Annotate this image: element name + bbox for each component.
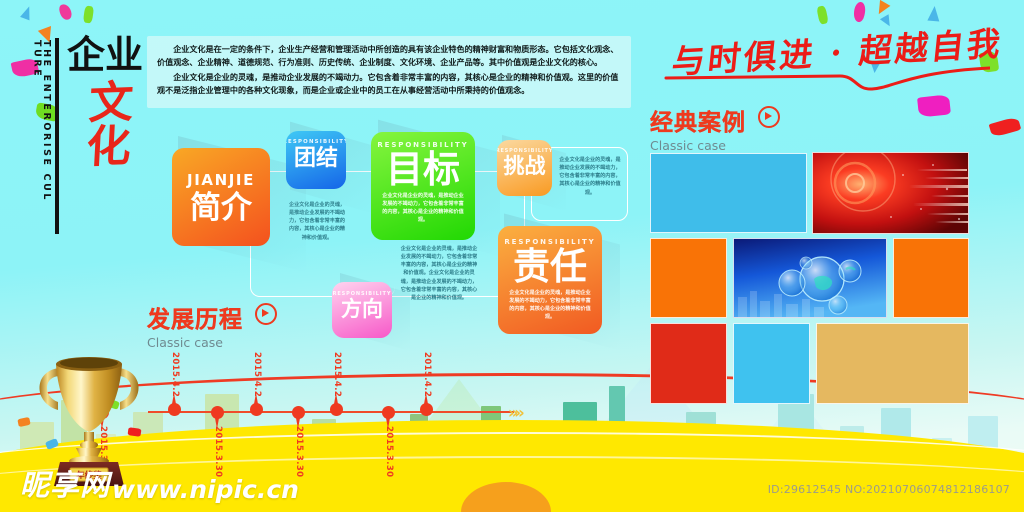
timeline-pin-5[interactable] — [292, 406, 305, 419]
confetti-11 — [927, 6, 940, 22]
card-fangxiang-cn: 方向 — [341, 299, 383, 320]
vertical-title-rule — [55, 38, 59, 234]
card-jianjie-en: JIANJIE — [187, 171, 255, 189]
confetti-2 — [58, 3, 73, 22]
card-zeren[interactable]: RESPONSIBILITY 责任 企业文化是企业的灵魂，是推动企业发展的不竭动… — [498, 226, 602, 334]
mubiao-lower-desc: 企业文化是企业的灵魂，是推动企业发展的不竭动力，它包含着非常丰富的内容，其核心是… — [400, 245, 478, 302]
intro-paragraph-1: 企业文化是在一定的条件下，企业生产经营和管理活动中所创造的具有该企业特色的精神财… — [157, 43, 621, 69]
arrow-right-icon[interactable] — [255, 303, 277, 325]
timeline-date-8: 2015.4.2 — [422, 352, 432, 397]
confetti-8 — [852, 1, 867, 23]
card-tuanjie-en: RESPONSIBILITY — [286, 139, 346, 145]
confetti-7 — [816, 5, 829, 24]
timeline-pin-4[interactable] — [250, 403, 263, 416]
card-jianjie-cn: 简介 — [190, 193, 252, 224]
card-mubiao[interactable]: RESPONSIBILITY 目标 企业文化是企业的灵魂，是推动企业发展的不竭动… — [371, 132, 475, 240]
arrow-right-icon[interactable] — [758, 106, 780, 128]
timeline-date-4: 2015.4.2 — [252, 352, 262, 397]
card-tiaozhan-cn: 挑战 — [504, 156, 546, 177]
gallery-tile-3[interactable] — [650, 238, 727, 318]
card-tiaozhan[interactable]: RESPONSIBILITY 挑战 — [497, 140, 552, 196]
gallery-tile-6[interactable] — [650, 323, 727, 404]
card-jianjie[interactable]: JIANJIE 简介 — [172, 148, 270, 246]
card-zeren-desc: 企业文化是企业的灵魂，是推动企业发展的不竭动力，它包含着非常丰富的内容，其核心是… — [498, 290, 602, 322]
confetti-13 — [917, 94, 951, 117]
vertical-title-chinese: 企业 文化 — [67, 36, 143, 167]
section-classic-cn: 经典案例 — [650, 103, 746, 137]
card-fangxiang[interactable]: RESPONSIBILITY 方向 — [332, 282, 392, 338]
gallery-tile-8[interactable] — [816, 323, 969, 404]
confetti-1 — [20, 5, 34, 21]
card-tiaozhan-desc: 企业文化是企业的灵魂，是推动企业发展的不竭动力，它包含着非常丰富的内容，其核心是… — [559, 156, 621, 197]
timeline-pin-7[interactable] — [382, 406, 395, 419]
vertical-title: THE ENTERORISE CUL TURE 企业 文化 — [32, 36, 143, 238]
vertical-title-english: THE ENTERORISE CUL TURE — [32, 40, 51, 238]
timeline-pin-2[interactable] — [168, 403, 181, 416]
card-tuanjie[interactable]: RESPONSIBILITY 团结 — [286, 131, 346, 189]
card-tuanjie-cn: 团结 — [294, 148, 338, 170]
vertical-title-cn-top: 企业 — [67, 36, 143, 75]
card-mubiao-cn: 目标 — [386, 151, 460, 188]
vertical-title-cn-bottom: 文化 — [81, 78, 130, 167]
gallery-tile-1[interactable] — [650, 153, 807, 233]
headline-underline — [660, 56, 990, 92]
timeline-pin-3[interactable] — [211, 406, 224, 419]
watermark-url: www.nipic.cn — [112, 475, 299, 504]
card-mubiao-desc: 企业文化是企业的灵魂，是推动企业发展的不竭动力，它包含着非常丰富的内容，其核心是… — [371, 193, 475, 225]
section-development-cn: 发展历程 — [147, 300, 243, 334]
card-tuanjie-desc: 企业文化是企业的灵魂，是推动企业发展的不竭动力，它包含着非常丰富的内容，其核心是… — [287, 201, 347, 242]
confetti-3 — [83, 5, 94, 23]
intro-paragraph-2: 企业文化是企业的灵魂，是推动企业发展的不竭动力。它包含着非常丰富的内容，其核心是… — [157, 71, 621, 97]
section-development: 发展历程 Classic case — [147, 300, 277, 350]
intro-paragraph-box: 企业文化是在一定的条件下，企业生产经营和管理活动中所创造的具有该企业特色的精神财… — [147, 36, 631, 108]
gallery-tile-5[interactable] — [893, 238, 969, 318]
section-classic-en: Classic case — [650, 138, 780, 153]
watermark-cn: 昵享网 — [20, 462, 110, 504]
watermark: 昵享网 www.nipic.cn — [20, 462, 299, 504]
image-id-text: ID:29612545 NO:20210706074812186107 — [768, 483, 1010, 496]
timeline-date-2: 2015.4.2 — [170, 352, 180, 397]
confetti-14 — [989, 116, 1022, 138]
gallery-tile-7[interactable] — [733, 323, 810, 404]
section-development-en: Classic case — [147, 335, 277, 350]
headline-block: 与时俱进 · 超越自我 — [672, 26, 1002, 96]
card-zeren-cn: 责任 — [513, 248, 587, 285]
timeline-pin-6[interactable] — [330, 403, 343, 416]
timeline-chevron-icon: »» — [508, 403, 521, 422]
timeline-pin-8[interactable] — [420, 403, 433, 416]
section-classic: 经典案例 Classic case — [650, 103, 780, 153]
timeline-date-7: 2015.3.30 — [384, 426, 394, 477]
gallery-tile-2[interactable] — [812, 152, 969, 234]
gallery-tile-4[interactable] — [733, 238, 887, 318]
poster-canvas: THE ENTERORISE CUL TURE 企业 文化 企业文化是在一定的条… — [0, 0, 1024, 512]
timeline-date-6: 2015.4.2 — [332, 352, 342, 397]
